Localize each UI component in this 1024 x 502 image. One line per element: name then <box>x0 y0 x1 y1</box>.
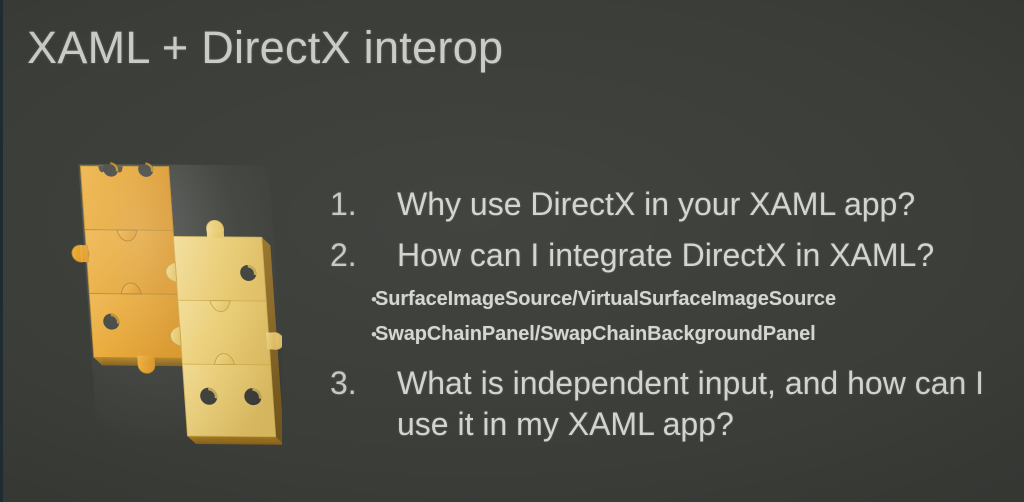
list-item-text: Why use DirectX in your XAML app? <box>397 184 1000 225</box>
list-item-number: 1. <box>330 184 397 225</box>
list-item: 3. What is independent input, and how ca… <box>330 363 1000 445</box>
page-title: XAML + DirectX interop <box>27 22 503 74</box>
list-item-text: How can I integrate DirectX in XAML? <box>397 235 1000 276</box>
list-item: 1. Why use DirectX in your XAML app? <box>330 184 1000 225</box>
puzzle-right-column <box>173 236 275 436</box>
puzzle-left-column <box>80 166 182 358</box>
list-item-text: What is independent input, and how can I… <box>397 363 1000 445</box>
bullet-icon: • <box>330 322 375 348</box>
list-item: 2. How can I integrate DirectX in XAML? <box>330 235 1000 276</box>
sub-bullet-text: SurfaceImageSource/VirtualSurfaceImageSo… <box>375 284 1000 314</box>
jigsaw-puzzle-illustration <box>62 130 282 470</box>
bullet-icon: • <box>330 287 375 313</box>
agenda-list: 1. Why use DirectX in your XAML app? 2. … <box>330 184 1000 445</box>
list-item-number: 3. <box>330 363 397 404</box>
list-item: • SurfaceImageSource/VirtualSurfaceImage… <box>330 284 1000 314</box>
sub-bullet-text: SwapChainPanel/SwapChainBackgroundPanel <box>375 319 1000 349</box>
jigsaw-puzzle-svg <box>62 130 282 470</box>
list-item: • SwapChainPanel/SwapChainBackgroundPane… <box>330 319 1000 349</box>
presentation-slide: XAML + DirectX interop <box>0 0 1024 502</box>
list-item-number: 2. <box>330 235 397 276</box>
sub-bullet-list: • SurfaceImageSource/VirtualSurfaceImage… <box>330 284 1000 349</box>
left-edge-strip <box>0 0 3 502</box>
